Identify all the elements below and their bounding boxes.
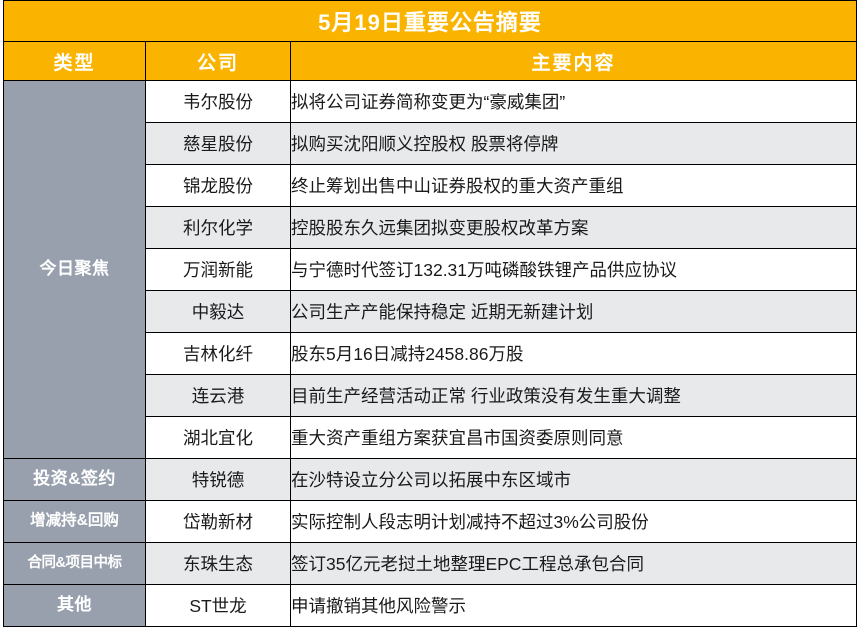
content-cell: 重大资产重组方案获宜昌市国资委原则同意 — [291, 417, 857, 459]
table-row: 今日聚焦韦尔股份拟将公司证券简称变更为“豪威集团” — [4, 81, 857, 123]
category-cell: 增减持&回购 — [4, 501, 146, 543]
announcement-summary-page: { "title": "5月19日重要公告摘要", "colors": { "h… — [0, 0, 861, 629]
content-cell: 实际控制人段志明计划减持不超过3%公司股份 — [291, 501, 857, 543]
company-cell: ST世龙 — [146, 585, 291, 627]
company-cell: 湖北宜化 — [146, 417, 291, 459]
column-header-content: 主要内容 — [291, 42, 857, 81]
content-cell: 拟购买沈阳顺义控股权 股票将停牌 — [291, 123, 857, 165]
company-cell: 东珠生态 — [146, 543, 291, 585]
content-cell: 目前生产经营活动正常 行业政策没有发生重大调整 — [291, 375, 857, 417]
column-header-company: 公司 — [146, 42, 291, 81]
content-cell: 在沙特设立分公司以拓展中东区域市 — [291, 459, 857, 501]
column-header-type: 类型 — [4, 42, 146, 81]
table-row: 合同&项目中标东珠生态签订35亿元老挝土地整理EPC工程总承包合同 — [4, 543, 857, 585]
company-cell: 中毅达 — [146, 291, 291, 333]
company-cell: 韦尔股份 — [146, 81, 291, 123]
content-cell: 拟将公司证券简称变更为“豪威集团” — [291, 81, 857, 123]
table-title-row: 5月19日重要公告摘要 — [4, 1, 857, 42]
content-cell: 公司生产产能保持稳定 近期无新建计划 — [291, 291, 857, 333]
category-cell: 投资&签约 — [4, 459, 146, 501]
content-cell: 与宁德时代签订132.31万吨磷酸铁锂产品供应协议 — [291, 249, 857, 291]
company-cell: 利尔化学 — [146, 207, 291, 249]
company-cell: 特锐德 — [146, 459, 291, 501]
content-cell: 申请撤销其他风险警示 — [291, 585, 857, 627]
announcement-table: 5月19日重要公告摘要 类型 公司 主要内容 今日聚焦韦尔股份拟将公司证券简称变… — [3, 0, 857, 627]
content-cell: 签订35亿元老挝土地整理EPC工程总承包合同 — [291, 543, 857, 585]
table-row: 增减持&回购岱勒新材实际控制人段志明计划减持不超过3%公司股份 — [4, 501, 857, 543]
category-cell: 其他 — [4, 585, 146, 627]
company-cell: 连云港 — [146, 375, 291, 417]
table-row: 投资&签约特锐德在沙特设立分公司以拓展中东区域市 — [4, 459, 857, 501]
company-cell: 岱勒新材 — [146, 501, 291, 543]
company-cell: 锦龙股份 — [146, 165, 291, 207]
table-header-row: 类型 公司 主要内容 — [4, 42, 857, 81]
category-cell: 今日聚焦 — [4, 81, 146, 459]
table-row: 其他ST世龙申请撤销其他风险警示 — [4, 585, 857, 627]
company-cell: 万润新能 — [146, 249, 291, 291]
company-cell: 吉林化纤 — [146, 333, 291, 375]
content-cell: 控股股东久远集团拟变更股权改革方案 — [291, 207, 857, 249]
category-cell: 合同&项目中标 — [4, 543, 146, 585]
company-cell: 慈星股份 — [146, 123, 291, 165]
content-cell: 股东5月16日减持2458.86万股 — [291, 333, 857, 375]
content-cell: 终止筹划出售中山证券股权的重大资产重组 — [291, 165, 857, 207]
page-title: 5月19日重要公告摘要 — [4, 1, 857, 42]
